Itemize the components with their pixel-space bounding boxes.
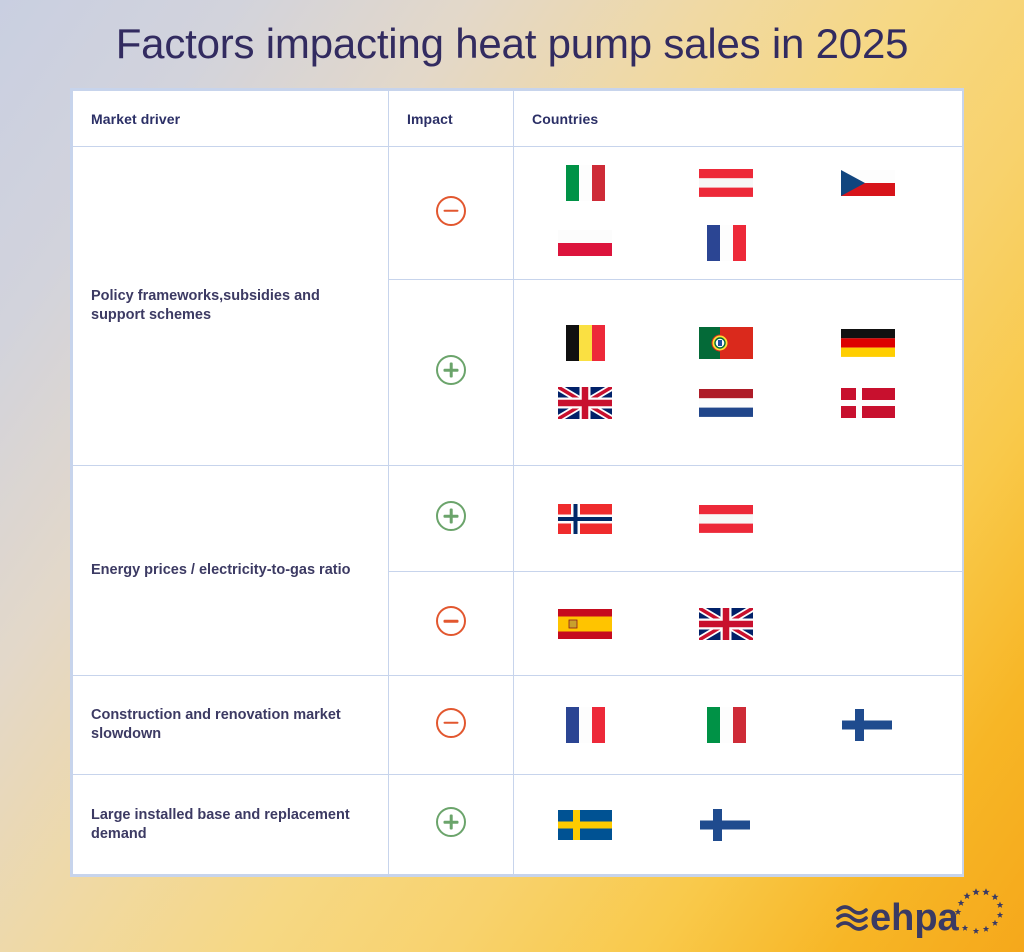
flag-denmark xyxy=(811,385,952,421)
column-header-impact: Impact xyxy=(389,91,514,147)
circle-plus-icon xyxy=(436,807,466,837)
impact-cell xyxy=(389,775,514,875)
factors-table: Market driver Impact Countries Policy fr… xyxy=(72,90,963,875)
table-body: Policy frameworks,subsidies and support … xyxy=(73,147,963,875)
badge-horizontal-bar xyxy=(444,620,459,623)
flag-spain xyxy=(528,606,669,642)
flag-finland xyxy=(811,707,952,743)
table-row: Policy frameworks,subsidies and support … xyxy=(73,147,963,280)
impact-cell xyxy=(389,676,514,775)
flag-grid xyxy=(528,165,952,261)
flag-italy xyxy=(528,165,669,201)
ehpa-wordmark: ehpa xyxy=(870,897,960,939)
header-row: Market driver Impact Countries xyxy=(73,91,963,147)
flag-united-kingdom xyxy=(528,385,669,421)
page-title: Factors impacting heat pump sales in 202… xyxy=(0,18,1024,70)
circle-minus-icon xyxy=(436,196,466,226)
impact-cell xyxy=(389,147,514,280)
flag-united-kingdom xyxy=(669,606,810,642)
badge-vertical-bar xyxy=(450,509,453,524)
circle-minus-icon xyxy=(436,606,466,636)
wave-icon xyxy=(838,907,866,929)
flag-grid xyxy=(528,501,952,537)
impact-cell xyxy=(389,466,514,572)
table-header: Market driver Impact Countries xyxy=(73,91,963,147)
market-driver-cell: Large installed base and replacement dem… xyxy=(73,775,389,875)
eu-stars-arc xyxy=(955,888,1004,934)
badge-vertical-bar xyxy=(450,363,453,378)
flag-netherlands xyxy=(669,385,810,421)
market-driver-cell: Construction and renovation market slowd… xyxy=(73,676,389,775)
flag-france xyxy=(669,225,810,261)
flag-grid xyxy=(528,807,952,843)
ehpa-logo: ehpa xyxy=(834,884,1006,942)
column-header-countries: Countries xyxy=(514,91,963,147)
flag-austria xyxy=(669,165,810,201)
flag-austria xyxy=(669,501,810,537)
flag-italy xyxy=(669,707,810,743)
countries-cell xyxy=(514,572,963,676)
impact-cell xyxy=(389,572,514,676)
table-row: Construction and renovation market slowd… xyxy=(73,676,963,775)
badge-horizontal-bar xyxy=(444,209,459,212)
flag-czech-republic xyxy=(811,165,952,201)
column-header-market-driver: Market driver xyxy=(73,91,389,147)
flag-norway xyxy=(528,501,669,537)
countries-cell xyxy=(514,775,963,875)
flag-portugal xyxy=(669,325,810,361)
flag-france xyxy=(528,707,669,743)
market-driver-cell: Policy frameworks,subsidies and support … xyxy=(73,147,389,466)
factors-table-container: Market driver Impact Countries Policy fr… xyxy=(70,88,964,877)
badge-vertical-bar xyxy=(450,815,453,830)
market-driver-cell: Energy prices / electricity-to-gas ratio xyxy=(73,466,389,676)
countries-cell xyxy=(514,147,963,280)
badge-horizontal-bar xyxy=(444,721,459,724)
impact-cell xyxy=(389,280,514,466)
flag-poland xyxy=(528,225,669,261)
circle-plus-icon xyxy=(436,355,466,385)
flag-germany xyxy=(811,325,952,361)
flag-finland xyxy=(669,807,810,843)
flag-grid xyxy=(528,325,952,421)
flag-grid xyxy=(528,707,952,743)
table-row: Large installed base and replacement dem… xyxy=(73,775,963,875)
countries-cell xyxy=(514,280,963,466)
flag-sweden xyxy=(528,807,669,843)
circle-minus-icon xyxy=(436,708,466,738)
circle-plus-icon xyxy=(436,501,466,531)
table-row: Energy prices / electricity-to-gas ratio xyxy=(73,466,963,572)
countries-cell xyxy=(514,676,963,775)
flag-grid xyxy=(528,606,952,642)
ehpa-logo-svg: ehpa xyxy=(834,884,1006,942)
flag-belgium xyxy=(528,325,669,361)
countries-cell xyxy=(514,466,963,572)
